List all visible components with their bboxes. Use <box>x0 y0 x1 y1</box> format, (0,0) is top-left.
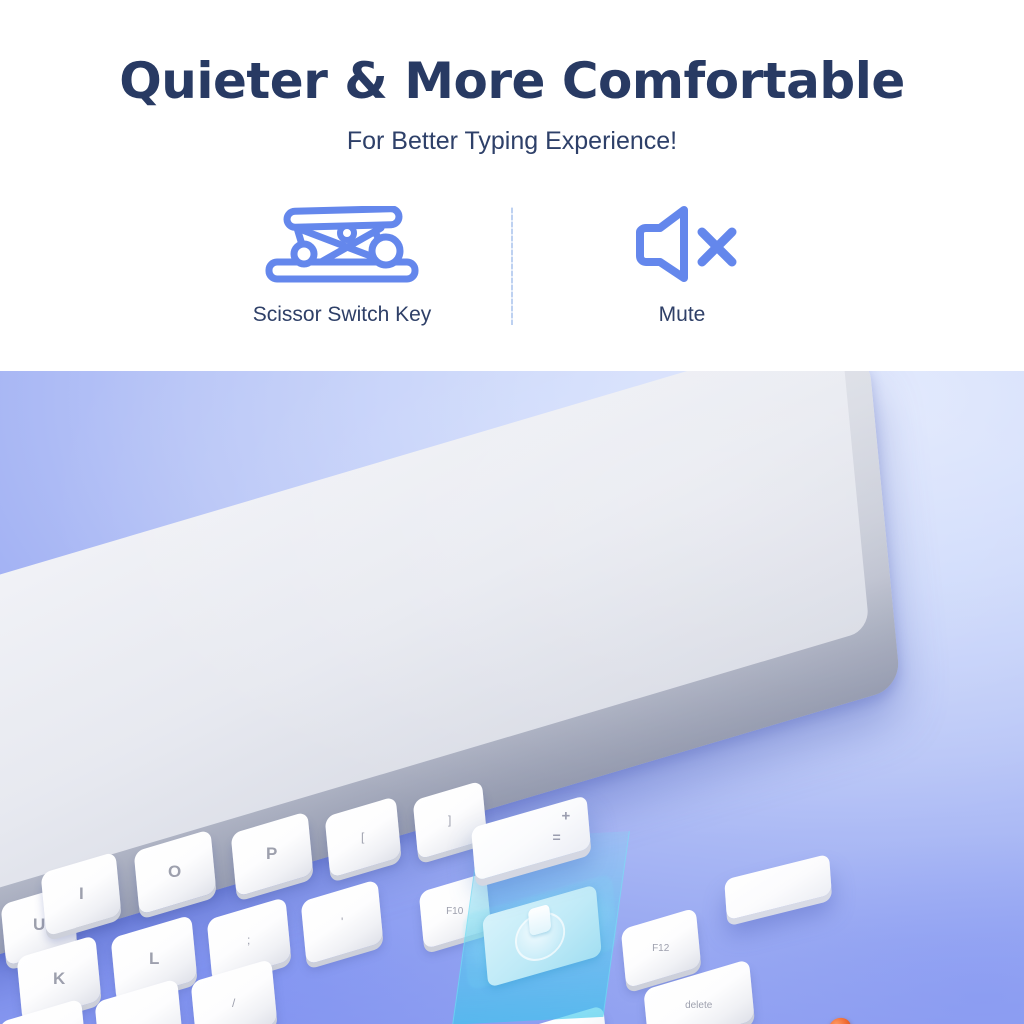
keycap-label: ' <box>341 915 343 929</box>
floating-keycap-label-equals: = <box>552 829 560 845</box>
keycap-label: K <box>53 969 65 989</box>
keycap-label: U <box>33 915 45 935</box>
keycap-label: F12 <box>652 943 669 954</box>
keycap-label: [ <box>361 830 364 844</box>
header-section: Quieter & More Comfortable For Better Ty… <box>0 0 1024 371</box>
scissor-switch-icon <box>263 205 421 285</box>
floating-keycap-label-plus: + <box>562 807 571 824</box>
keycap-label: / <box>232 996 235 1010</box>
feature-label-scissor-switch: Scissor Switch Key <box>253 303 432 327</box>
feature-list: Scissor Switch Key Mute <box>0 205 1024 350</box>
keyboard-product-photo: UIOP[]F10F12KL;'delete,./returnshift + =… <box>0 371 1024 1024</box>
feature-divider <box>511 207 513 325</box>
product-feature-banner: Quieter & More Comfortable For Better Ty… <box>0 0 1024 1024</box>
keycap-label: F10 <box>446 906 463 917</box>
speaker-mute-icon <box>622 205 742 285</box>
keycap-label: L <box>149 949 159 969</box>
page-title: Quieter & More Comfortable <box>0 50 1024 112</box>
page-subtitle: For Better Typing Experience! <box>0 124 1024 158</box>
keycap-label: O <box>168 862 181 882</box>
feature-label-mute: Mute <box>659 303 706 327</box>
keycap-label: P <box>266 844 277 864</box>
feature-divider-cell <box>482 205 542 325</box>
keycap-label: . <box>137 1017 140 1024</box>
keycap-label: ; <box>247 933 250 947</box>
keycap-label: ] <box>448 813 451 827</box>
feature-item-mute: Mute <box>542 205 822 327</box>
feature-item-scissor-switch: Scissor Switch Key <box>202 205 482 327</box>
keycap-label: delete <box>685 1000 712 1011</box>
keycap-label: I <box>79 884 84 904</box>
